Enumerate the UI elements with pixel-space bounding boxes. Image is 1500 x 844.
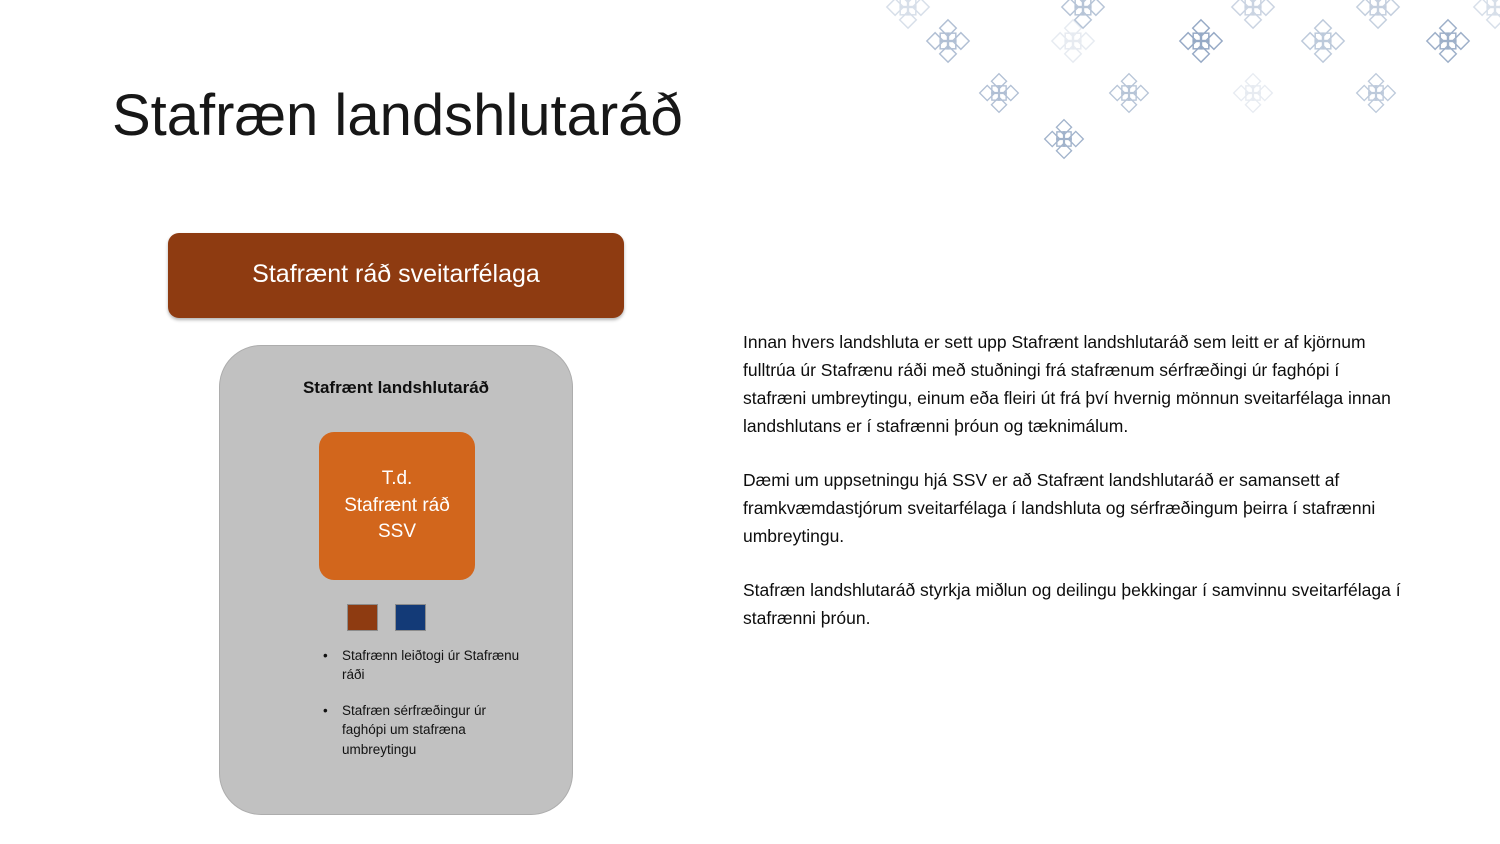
brown-swatch (347, 604, 378, 631)
quatrefoil-knot-icon (1300, 18, 1346, 64)
quatrefoil-knot-icon (1108, 72, 1150, 114)
quatrefoil-knot-icon (1230, 0, 1276, 30)
council-box-label: Stafrænt ráð sveitarfélaga (252, 260, 540, 291)
quatrefoil-knot-icon (925, 18, 971, 64)
quatrefoil-knot-icon (1050, 18, 1096, 64)
body-paragraph-1: Innan hvers landshluta er sett upp Stafr… (743, 328, 1403, 440)
example-council-box: T.d. Stafrænt ráð SSV (319, 432, 475, 580)
list-item: • Stafræn sérfræðingur úr faghópi um sta… (320, 701, 520, 758)
slide-canvas: Stafræn landshlutaráð Stafrænt ráð sveit… (0, 0, 1500, 844)
body-paragraph-3: Stafræn landshlutaráð styrkja miðlun og … (743, 576, 1403, 632)
example-line-1: T.d. (382, 466, 413, 493)
decorative-pattern (860, 0, 1500, 160)
regional-council-heading: Stafrænt landshlutaráð (220, 378, 572, 398)
page-title: Stafræn landshlutaráð (112, 84, 683, 149)
quatrefoil-knot-icon (885, 0, 931, 30)
quatrefoil-knot-icon (1178, 18, 1224, 64)
quatrefoil-knot-icon (1232, 72, 1274, 114)
body-paragraph-2: Dæmi um uppsetningu hjá SSV er að Stafræ… (743, 466, 1403, 550)
example-line-3: SSV (378, 519, 416, 546)
bullet-icon: • (323, 701, 328, 720)
quatrefoil-knot-icon (1355, 72, 1397, 114)
bullet-icon: • (323, 646, 328, 665)
quatrefoil-knot-icon (1355, 0, 1401, 30)
list-item-label: Stafræn sérfræðingur úr faghópi um stafr… (342, 703, 486, 756)
example-line-2: Stafrænt ráð (344, 493, 450, 520)
body-text-column: Innan hvers landshluta er sett upp Stafr… (743, 328, 1403, 632)
navy-swatch (395, 604, 426, 631)
quatrefoil-knot-icon (978, 72, 1020, 114)
quatrefoil-knot-icon (1043, 118, 1085, 160)
list-item-label: Stafrænn leiðtogi úr Stafrænu ráði (342, 648, 519, 682)
legend-list: • Stafrænn leiðtogi úr Stafrænu ráði • S… (320, 646, 520, 776)
quatrefoil-knot-icon (1060, 0, 1106, 30)
list-item: • Stafrænn leiðtogi úr Stafrænu ráði (320, 646, 520, 684)
council-box: Stafrænt ráð sveitarfélaga (168, 233, 624, 318)
regional-council-panel: Stafrænt landshlutaráð T.d. Stafrænt ráð… (219, 345, 573, 815)
quatrefoil-knot-icon (1425, 18, 1471, 64)
quatrefoil-knot-icon (1472, 0, 1500, 30)
legend-swatches (347, 604, 426, 631)
